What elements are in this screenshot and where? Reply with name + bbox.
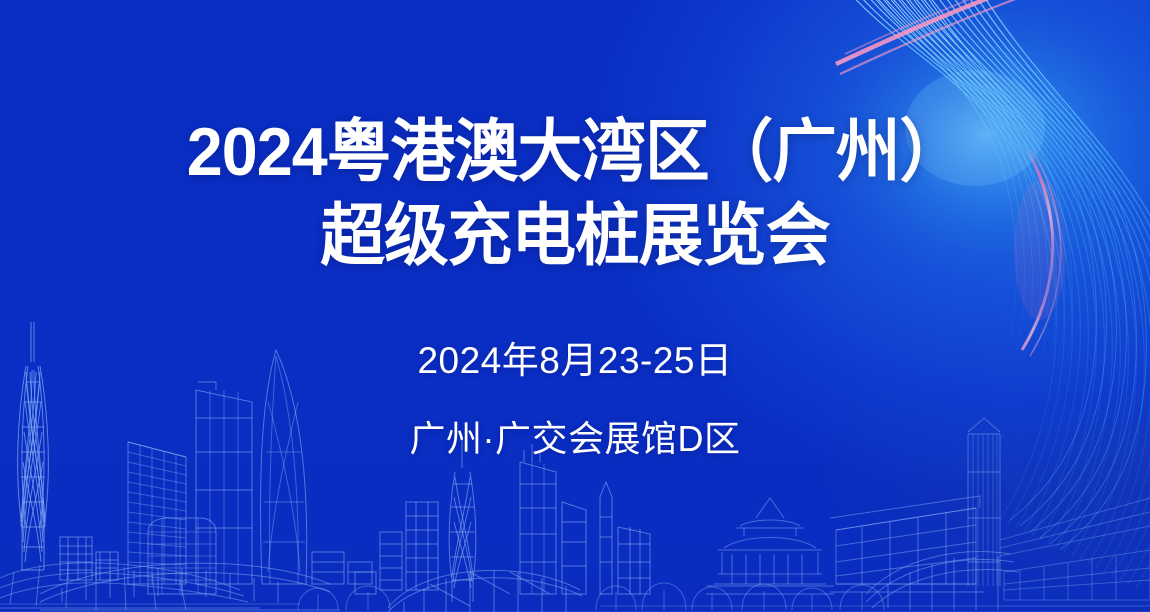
poster-subtitle-group: 2024年8月23-25日 广州·广交会展馆D区	[0, 330, 1150, 470]
event-venue: 广州·广交会展馆D区	[0, 408, 1150, 470]
event-date: 2024年8月23-25日	[0, 330, 1150, 392]
exhibition-poster: 2024粤港澳大湾区（广州） 超级充电桩展览会 2024年8月23-25日 广州…	[0, 0, 1150, 612]
poster-content: 2024粤港澳大湾区（广州） 超级充电桩展览会 2024年8月23-25日 广州…	[0, 0, 1150, 612]
title-line-1: 2024粤港澳大湾区（广州）	[29, 112, 1122, 192]
title-line-2: 超级充电桩展览会	[29, 196, 1122, 276]
poster-title: 2024粤港澳大湾区（广州） 超级充电桩展览会	[0, 112, 1150, 276]
